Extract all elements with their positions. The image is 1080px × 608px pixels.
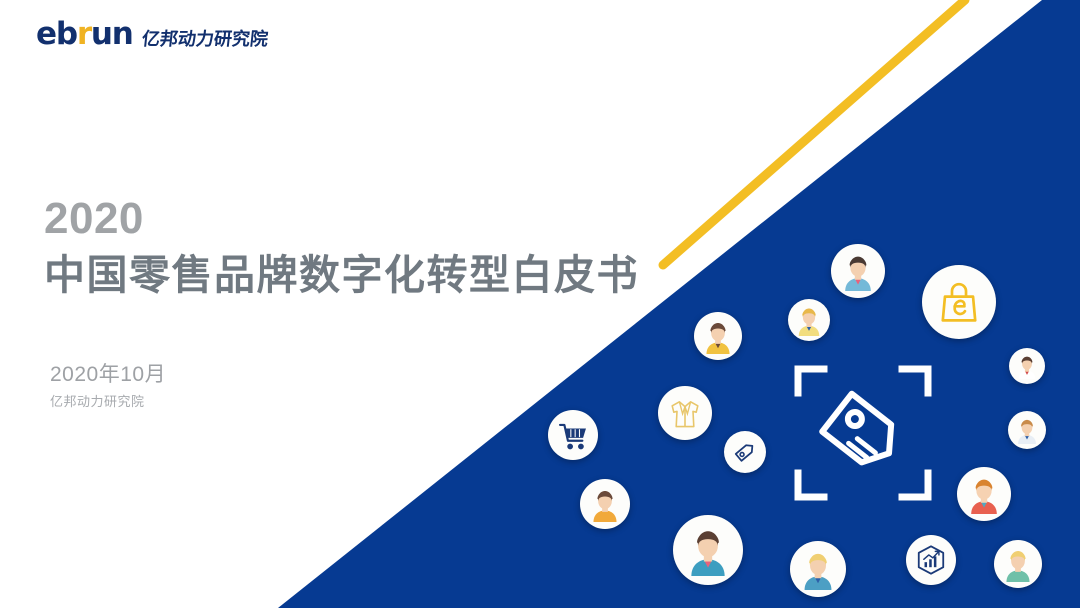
title-slide: ebrun 亿邦动力研究院 2020 中国零售品牌数字化转型白皮书 2020年1…	[0, 0, 1080, 608]
avatar-orange-shirt-glyph	[587, 486, 623, 522]
price-tag-small-icon-icon	[724, 431, 766, 473]
avatar-teal-glasses-icon	[831, 244, 885, 298]
avatar-blue-suit-icon	[1008, 411, 1046, 449]
avatar-yellow-tie-icon	[788, 299, 830, 341]
avatar-blonde-glasses-glyph	[797, 548, 839, 590]
meta-block: 2020年10月 亿邦动力研究院	[50, 361, 166, 411]
logo-wordmark: ebrun	[36, 19, 133, 50]
analytics-badge-icon-glyph	[913, 542, 949, 578]
avatar-green-top-glyph	[1000, 546, 1036, 582]
avatar-green-top-icon	[994, 540, 1042, 588]
avatar-orange-shirt-icon	[580, 479, 630, 529]
avatar-blonde-glasses-icon	[790, 541, 846, 597]
clothing-jacket-icon-icon	[658, 386, 712, 440]
title-block: 2020 中国零售品牌数字化转型白皮书	[44, 196, 639, 299]
clothing-jacket-icon-glyph	[665, 393, 705, 433]
avatar-hat-beard-icon	[957, 467, 1011, 521]
avatar-hat-beard-glyph	[964, 474, 1004, 514]
logo-wordmark-suffix: un	[91, 16, 133, 52]
shopping-bag-e-logo-glyph	[932, 275, 986, 329]
avatar-scarf-teal-icon	[673, 515, 743, 585]
avatar-scarf-teal-glyph	[682, 524, 734, 576]
publisher-name: 亿邦动力研究院	[50, 394, 166, 411]
avatar-red-tie-icon	[1009, 348, 1045, 384]
page-title: 中国零售品牌数字化转型白皮书	[44, 252, 639, 299]
logo-wordmark-accent: r	[77, 16, 91, 52]
avatar-red-tie-glyph	[1014, 353, 1040, 379]
shopping-cart-icon-icon	[548, 410, 598, 460]
avatar-teal-glasses-glyph	[838, 251, 878, 291]
shopping-bag-e-logo-icon	[922, 265, 996, 339]
logo-chinese-name: 亿邦动力研究院	[141, 30, 269, 48]
avatar-braids-yellow-icon	[694, 312, 742, 360]
price-tag-small-icon-glyph	[729, 436, 761, 468]
avatar-braids-yellow-glyph	[700, 318, 736, 354]
publish-date: 2020年10月	[50, 361, 166, 388]
brand-logo[interactable]: ebrun 亿邦动力研究院	[36, 19, 268, 50]
report-year: 2020	[44, 196, 639, 242]
icon-cluster	[0, 0, 1080, 608]
avatar-yellow-tie-glyph	[793, 304, 825, 336]
logo-wordmark-prefix: eb	[36, 16, 77, 52]
avatar-blue-suit-glyph	[1013, 416, 1041, 444]
analytics-badge-icon-icon	[906, 535, 956, 585]
shopping-cart-icon-glyph	[555, 417, 591, 453]
scanner-viewfinder-icon	[788, 357, 938, 509]
